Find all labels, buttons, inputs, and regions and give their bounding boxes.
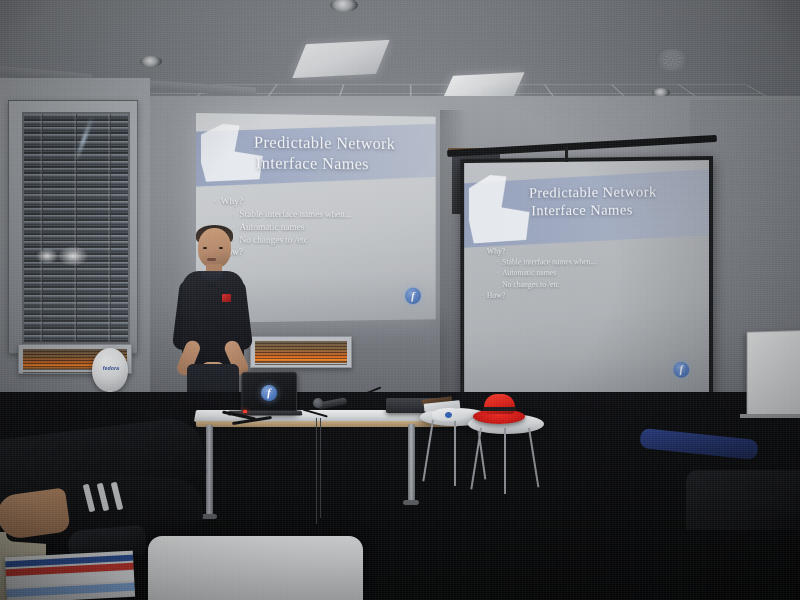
bullet-glyph: · xyxy=(496,258,499,267)
sunset-glass xyxy=(255,341,347,363)
side-table-leg xyxy=(454,420,456,486)
slide-bullet: ·Stable interface names when... xyxy=(232,210,424,220)
laptop-power-led xyxy=(243,410,247,413)
slide-bullet-text: Why? xyxy=(487,246,505,255)
projection-screen-frame: Predictable Network Interface Names ·Why… xyxy=(460,156,713,416)
hanging-cable xyxy=(316,418,317,524)
bullet-glyph: · xyxy=(213,197,216,207)
ceiling-air-vent-icon xyxy=(655,48,689,72)
laptop[interactable]: f xyxy=(241,372,297,414)
slide-bullet: ·How? xyxy=(481,291,697,300)
slide-bullet-text: Automatic names xyxy=(502,269,556,278)
bullet-glyph: · xyxy=(232,210,235,220)
polo-shirt-logo xyxy=(222,294,231,302)
cap-logo-icon xyxy=(445,412,452,418)
slide-bullet-list: ·Why?·Stable interface names when...·Aut… xyxy=(481,246,697,303)
table-foot xyxy=(403,500,419,505)
table-leg xyxy=(408,424,415,504)
fluorescent-panel-light xyxy=(292,40,389,78)
whiteboard xyxy=(747,330,800,418)
slide-bullet: ·Why? xyxy=(481,246,697,256)
ceiling-downlight-icon xyxy=(140,56,162,67)
slide-bullet-text: No changes to /etc xyxy=(502,280,559,289)
blind-tape xyxy=(74,114,77,342)
bullet-glyph: · xyxy=(481,247,484,256)
foreground-seat xyxy=(686,470,800,530)
slide-bullet: ·Automatic names xyxy=(232,223,424,233)
presenter-eye xyxy=(219,247,223,249)
slide-bullet: ·Why? xyxy=(213,197,424,207)
blind-tape xyxy=(40,114,43,342)
slide-bullet-text: How? xyxy=(487,291,505,300)
whiteboard-tray xyxy=(740,414,800,418)
red-fedora-crown xyxy=(484,394,515,414)
foreground-table xyxy=(148,536,363,600)
balloon-label: fedora xyxy=(98,366,124,372)
slide-title-line2: Interface Names xyxy=(196,153,426,175)
bullet-glyph: · xyxy=(496,269,499,278)
slide-title-line2: Interface Names xyxy=(467,201,699,221)
ceiling-downlight-icon xyxy=(330,0,358,12)
laptop-sticker-glyph: f xyxy=(267,387,271,399)
laptop-fedora-sticker: f xyxy=(261,385,277,401)
slide-bullet-text: Stable interface names when... xyxy=(502,257,596,266)
slide-bullet-text: Stable interface names when... xyxy=(239,210,351,220)
slide-title-line1: Predictable Network xyxy=(488,183,699,203)
presenter-eye xyxy=(203,247,207,249)
bullet-glyph: · xyxy=(481,291,484,300)
slide-right: Predictable Network Interface Names ·Why… xyxy=(464,160,709,412)
slide-title-line1: Predictable Network xyxy=(221,132,427,155)
bullet-glyph: · xyxy=(496,280,499,289)
presenter-mouth xyxy=(207,258,216,261)
fedora-balloon: fedora xyxy=(92,348,128,392)
slide-title: Predictable Network Interface Names xyxy=(221,132,427,175)
blind-tape xyxy=(108,114,111,342)
slide-bullet: ·Stable interface names when... xyxy=(496,257,696,266)
slide-bullet-text: Why? xyxy=(221,197,243,207)
screen-support-arm xyxy=(565,146,568,162)
red-fedora-band xyxy=(483,407,516,411)
hanging-cable xyxy=(320,418,321,518)
side-table-leg xyxy=(504,428,506,494)
microphone-head xyxy=(313,398,323,408)
projection-screen-surface: Predictable Network Interface Names ·Why… xyxy=(464,160,709,412)
slide-bullet: ·No changes to /etc xyxy=(496,280,696,289)
slide-title: Predictable Network Interface Names xyxy=(488,183,699,221)
sunset-window xyxy=(250,336,352,368)
leaflet xyxy=(5,551,135,600)
venetian-blinds xyxy=(22,112,130,344)
slide-bullet: ·Automatic names xyxy=(496,268,696,277)
photograph-conference-room: fedora Predictable Network Interface Nam… xyxy=(0,0,800,600)
slide-bullet: ·No changes to /etc xyxy=(232,235,424,245)
